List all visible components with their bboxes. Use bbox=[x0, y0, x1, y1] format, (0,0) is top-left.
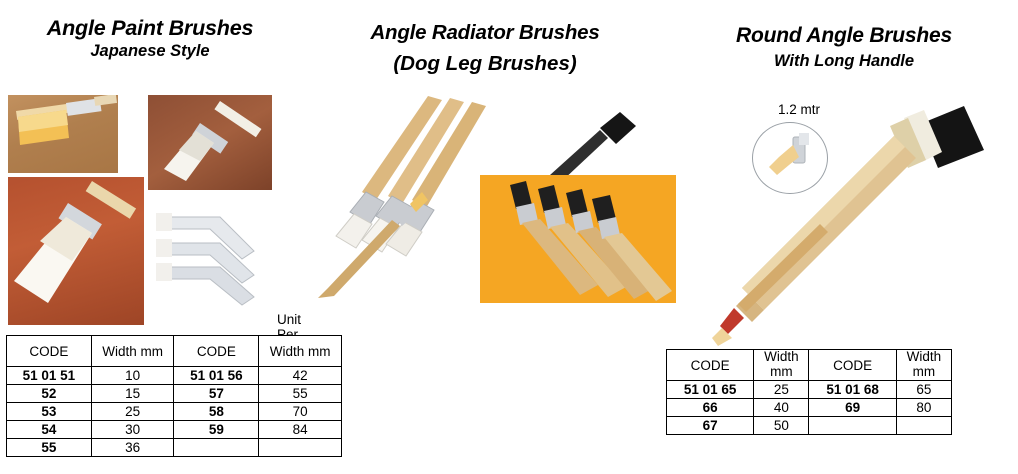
cell-code: 57 bbox=[174, 385, 259, 403]
table-row: 54 30 59 84 bbox=[7, 421, 342, 439]
right-title-line1: Round Angle Brushes bbox=[670, 24, 1018, 48]
cell-code: 53 bbox=[7, 403, 92, 421]
brush-illustration-3 bbox=[8, 177, 144, 325]
cell-code: 51 01 56 bbox=[174, 367, 259, 385]
cell-code: 54 bbox=[7, 421, 92, 439]
cell-width: 30 bbox=[91, 421, 174, 439]
cell-code: 51 01 51 bbox=[7, 367, 92, 385]
cell-code: 58 bbox=[174, 403, 259, 421]
table-angle-paint-brushes: CODE Width mm CODE Width mm 51 01 51 10 … bbox=[6, 335, 342, 457]
table-row: 55 36 bbox=[7, 439, 342, 457]
photo-japanese-brush-large bbox=[8, 177, 144, 325]
photo-dogleg-brushes-orange bbox=[480, 175, 676, 303]
middle-title-line1: Angle Radiator Brushes bbox=[300, 22, 670, 45]
left-title-line1: Angle Paint Brushes bbox=[0, 16, 300, 40]
cell-width: 10 bbox=[91, 367, 174, 385]
left-title-line2: Japanese Style bbox=[0, 42, 300, 60]
header-width-1: Width mm bbox=[91, 336, 174, 367]
cell-width: 25 bbox=[91, 403, 174, 421]
table-row: 53 25 58 70 bbox=[7, 403, 342, 421]
table-row: 51 01 51 10 51 01 56 42 bbox=[7, 367, 342, 385]
table-row: 52 15 57 55 bbox=[7, 385, 342, 403]
cell-width: 15 bbox=[91, 385, 174, 403]
ferrules-illustration bbox=[150, 205, 272, 315]
photo-brush-ferrules bbox=[150, 205, 272, 315]
cell-code: 52 bbox=[7, 385, 92, 403]
middle-panel-title: Angle Radiator Brushes (Dog Leg Brushes) bbox=[300, 22, 670, 76]
cell-code: 59 bbox=[174, 421, 259, 439]
photo-japanese-brush-top bbox=[8, 95, 118, 173]
cell-code bbox=[174, 439, 259, 457]
panel-angle-paint-brushes: Angle Paint Brushes Japanese Style bbox=[0, 0, 300, 474]
brush-illustration-2 bbox=[148, 95, 272, 190]
panel-angle-radiator-brushes: Angle Radiator Brushes (Dog Leg Brushes) bbox=[300, 0, 670, 474]
middle-title-line2: (Dog Leg Brushes) bbox=[300, 53, 670, 76]
right-title-line2: With Long Handle bbox=[670, 52, 1018, 70]
brush-illustration-1 bbox=[8, 95, 118, 173]
panel-round-angle-brushes: Round Angle Brushes With Long Handle 1.2… bbox=[670, 0, 1018, 474]
right-panel-title: Round Angle Brushes With Long Handle bbox=[670, 24, 1018, 70]
header-code-1: CODE bbox=[7, 336, 92, 367]
cell-code: 55 bbox=[7, 439, 92, 457]
photo-japanese-brush-white bbox=[148, 95, 272, 190]
header-code-2: CODE bbox=[174, 336, 259, 367]
left-panel-title: Angle Paint Brushes Japanese Style bbox=[0, 16, 300, 61]
cell-width: 36 bbox=[91, 439, 174, 457]
long-handle-brush-illustration bbox=[708, 96, 1008, 346]
dogleg-brushes-group bbox=[480, 175, 676, 303]
table-row-header: CODE Width mm CODE Width mm bbox=[7, 336, 342, 367]
